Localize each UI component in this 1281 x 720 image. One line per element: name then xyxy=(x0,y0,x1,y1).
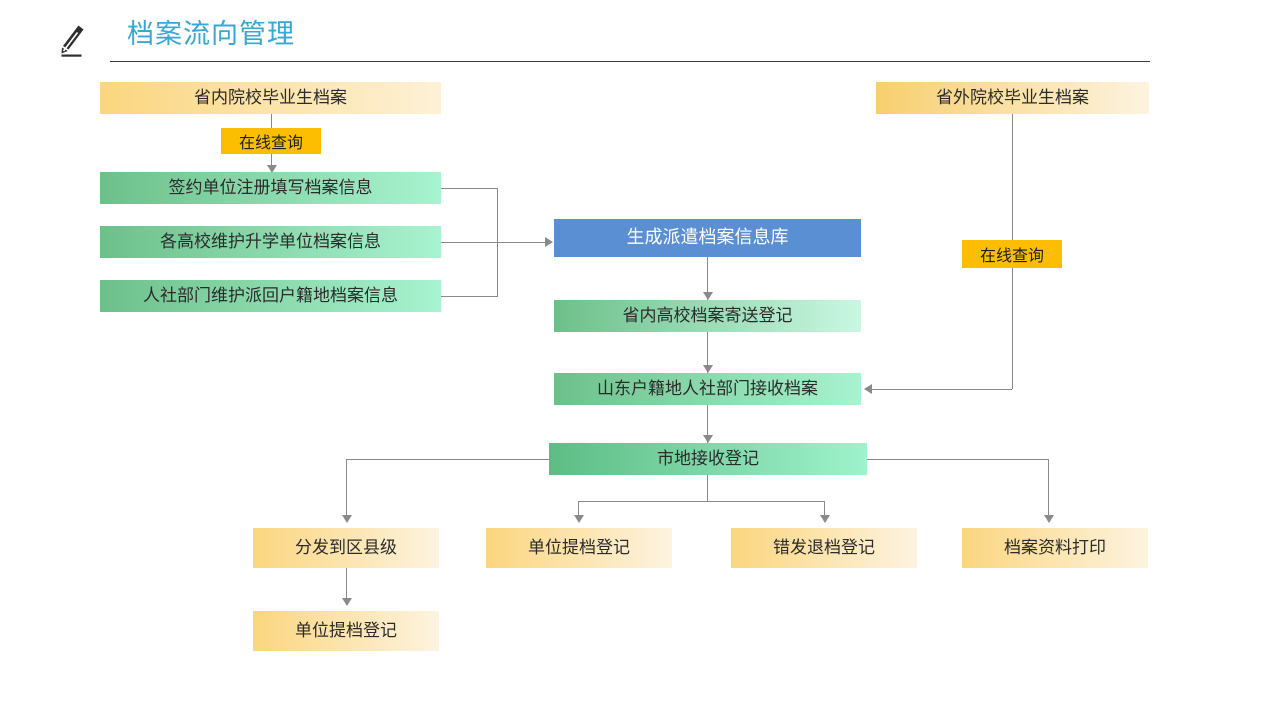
node-archive-print[interactable]: 档案资料打印 xyxy=(962,528,1148,568)
tag-online-query-right[interactable]: 在线查询 xyxy=(962,240,1062,268)
connector-cityreceive-to-print xyxy=(1048,459,1049,520)
connector-cityreceive-left-run xyxy=(346,459,550,460)
node-wrong-send-return[interactable]: 错发退档登记 xyxy=(731,528,917,568)
arrow-cityreceive-to-distribute xyxy=(342,515,352,523)
connector-college-to-bus xyxy=(441,242,498,243)
arrow-collegesend-to-shandong xyxy=(703,365,713,373)
arrow-bus-to-dispatchdb xyxy=(545,237,553,247)
flowchart-canvas: 档案流向管理 省内院校毕业生档案 省外院校毕业生档案 签约单位注册填写档案信息 … xyxy=(0,0,1281,720)
arrow-distribute-to-unitretrieval2 xyxy=(342,598,352,606)
node-distribute-district[interactable]: 分发到区县级 xyxy=(253,528,439,568)
connector-cityreceive-to-distribute xyxy=(346,459,347,520)
connector-signed-to-bus xyxy=(441,188,498,189)
node-college-send-register[interactable]: 省内高校档案寄送登记 xyxy=(554,300,861,332)
arrow-outprovince-to-shandong xyxy=(864,384,872,394)
connector-cityreceive-right-run xyxy=(867,459,1049,460)
tag-online-query-left[interactable]: 在线查询 xyxy=(221,128,321,154)
header-divider xyxy=(110,61,1150,62)
arrow-to-unitretrieval xyxy=(574,515,584,523)
node-unit-retrieval-register-2[interactable]: 单位提档登记 xyxy=(253,611,439,651)
connector-outprovince-to-shandong xyxy=(872,389,1012,390)
node-college-maintain[interactable]: 各高校维护升学单位档案信息 xyxy=(100,226,441,258)
arrow-to-wrongsend xyxy=(820,515,830,523)
connector-hrdept-to-bus xyxy=(441,296,498,297)
node-dispatch-db[interactable]: 生成派遣档案信息库 xyxy=(554,219,861,257)
connector-cityreceive-down-stem xyxy=(707,475,708,501)
node-in-province-source[interactable]: 省内院校毕业生档案 xyxy=(100,82,441,114)
node-unit-retrieval-register[interactable]: 单位提档登记 xyxy=(486,528,672,568)
node-signed-unit-register[interactable]: 签约单位注册填写档案信息 xyxy=(100,172,441,204)
connector-middle-split xyxy=(578,501,824,502)
arrow-dispatchdb-to-collegesend xyxy=(703,292,713,300)
node-hr-dept-maintain[interactable]: 人社部门维护派回户籍地档案信息 xyxy=(100,280,441,312)
page-title: 档案流向管理 xyxy=(127,21,295,48)
pencil-edit-icon xyxy=(48,18,92,62)
arrow-shandong-to-cityreceive xyxy=(703,435,713,443)
node-city-receive-register[interactable]: 市地接收登记 xyxy=(549,443,867,475)
connector-bus-to-dispatchdb xyxy=(497,242,547,243)
node-shandong-receive[interactable]: 山东户籍地人社部门接收档案 xyxy=(554,373,861,405)
arrow-cityreceive-to-print xyxy=(1044,515,1054,523)
node-out-province-source[interactable]: 省外院校毕业生档案 xyxy=(876,82,1149,114)
